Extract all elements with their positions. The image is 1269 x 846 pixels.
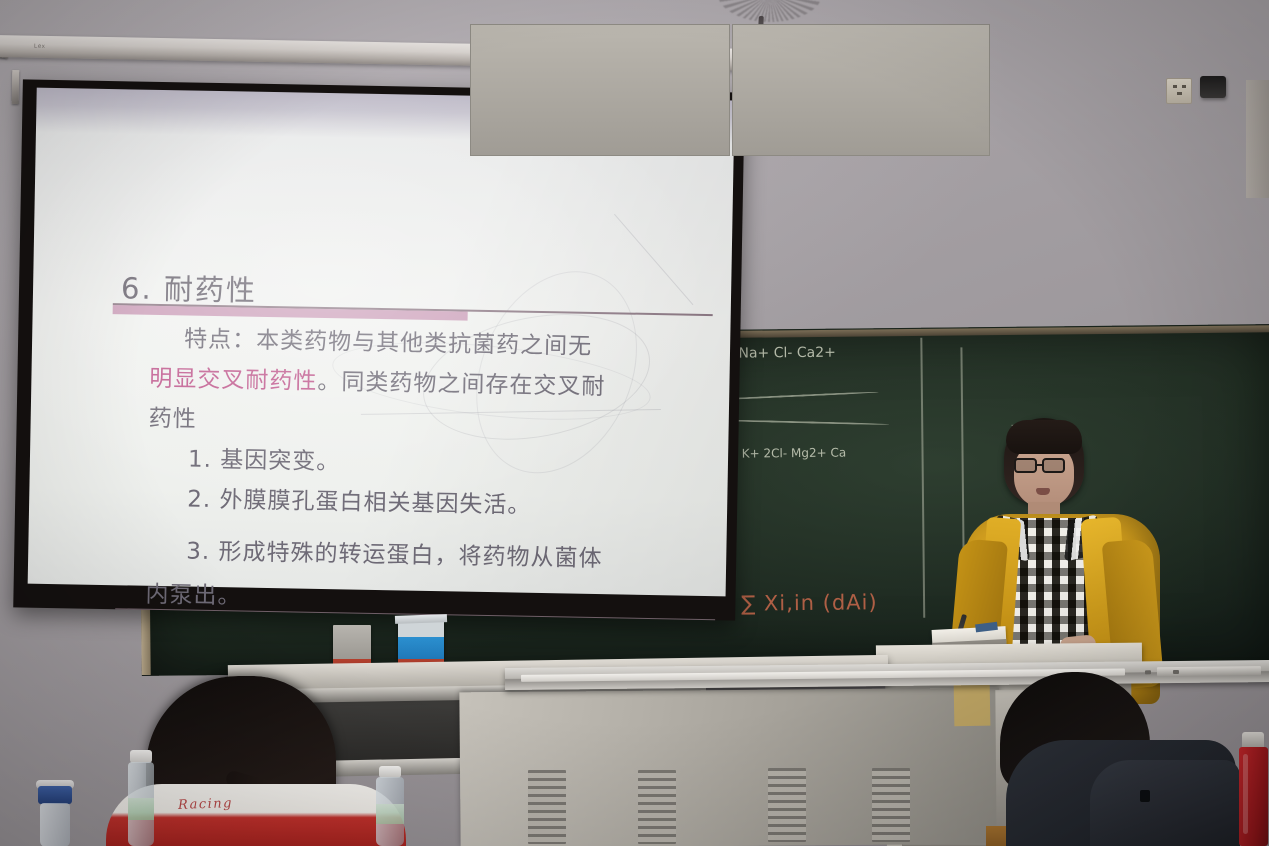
lecturer-bangs <box>1006 420 1082 454</box>
projected-slide: 6. 耐药性 特点：本类药物与其他类抗菌药之间无 明显交叉耐药性。同类药物之间存… <box>28 88 735 597</box>
door-edge <box>1246 80 1269 198</box>
student-right-shoulder <box>1090 760 1240 846</box>
slide-paragraph-line2: 明显交叉耐药性。同类药物之间存在交叉耐 <box>149 362 606 406</box>
outlet-slot <box>1177 92 1182 95</box>
glasses-bridge <box>1037 464 1042 466</box>
classroom-photo: Lex X dAo H+ 区域 尿 sss ss s -CH2-CH2-CH2-… <box>0 0 1269 846</box>
slide-paragraph-line3: 药性 <box>148 402 197 439</box>
outlet-slot <box>1182 85 1186 88</box>
slide-list-item-3: 3. 形成特殊的转运蛋白，将药物从菌体 <box>186 535 603 578</box>
cabinet-vent <box>528 770 566 844</box>
red-thermos[interactable] <box>1238 732 1268 846</box>
chalk-vertical-divider <box>920 338 925 618</box>
slide-paragraph-line1: 特点：本类药物与其他类抗菌药之间无 <box>184 322 593 365</box>
bottle-label <box>376 804 404 824</box>
slide-highlight-text: 明显交叉耐药性 <box>149 366 317 395</box>
sports-bottle[interactable] <box>36 786 74 846</box>
screen-smudge <box>614 214 693 305</box>
glasses-icon <box>1042 458 1065 473</box>
chalk-tray-fastener <box>1145 670 1151 674</box>
water-bottle[interactable] <box>374 766 406 846</box>
bottle-cap <box>38 786 72 804</box>
cabinet-tape-mark <box>954 682 991 727</box>
wall-device-icon <box>1200 76 1226 98</box>
outlet-slot <box>1173 85 1177 88</box>
bottle-label <box>128 798 154 820</box>
housing-label: Lex <box>34 44 45 50</box>
slide-list-item-1: 1. 基因突变。 <box>188 443 341 481</box>
projector-screen: 6. 耐药性 特点：本类药物与其他类抗菌药之间无 明显交叉耐药性。同类药物之间存… <box>13 79 745 620</box>
lecturer-mouth <box>1036 488 1050 495</box>
jacket-logo-text: Racing <box>178 796 233 813</box>
cabinet-vent <box>768 768 806 842</box>
cabinet-vent <box>872 768 910 842</box>
chalk-note: Na+ Cl- Ca2+ <box>738 345 836 362</box>
screen-bracket-left <box>12 70 20 104</box>
thermos-highlight <box>1243 754 1248 834</box>
chalk-box-flap <box>395 614 447 624</box>
power-outlet-icon <box>1166 78 1192 104</box>
book-bookmark <box>975 622 998 633</box>
slide-paragraph-line2-rest: 。同类药物之间存在交叉耐 <box>317 369 605 400</box>
water-bottle[interactable] <box>126 750 156 846</box>
slide-list-item-2: 2. 外膜膜孔蛋白相关基因失活。 <box>187 483 532 525</box>
chalk-tray-fastener <box>1173 670 1179 674</box>
cabinet-door[interactable] <box>470 24 730 156</box>
cabinet-door[interactable] <box>732 24 990 156</box>
chalk-box[interactable] <box>333 625 371 660</box>
jacket-button <box>1140 790 1150 802</box>
glasses-icon <box>1014 458 1037 473</box>
cabinet-vent <box>638 770 676 844</box>
slide-heading-accent-bar <box>113 305 468 321</box>
chalk-tray-groove <box>521 669 1125 682</box>
chalk-box[interactable] <box>398 620 444 660</box>
bottle-body <box>40 803 70 846</box>
thermos-cap <box>1242 732 1264 748</box>
